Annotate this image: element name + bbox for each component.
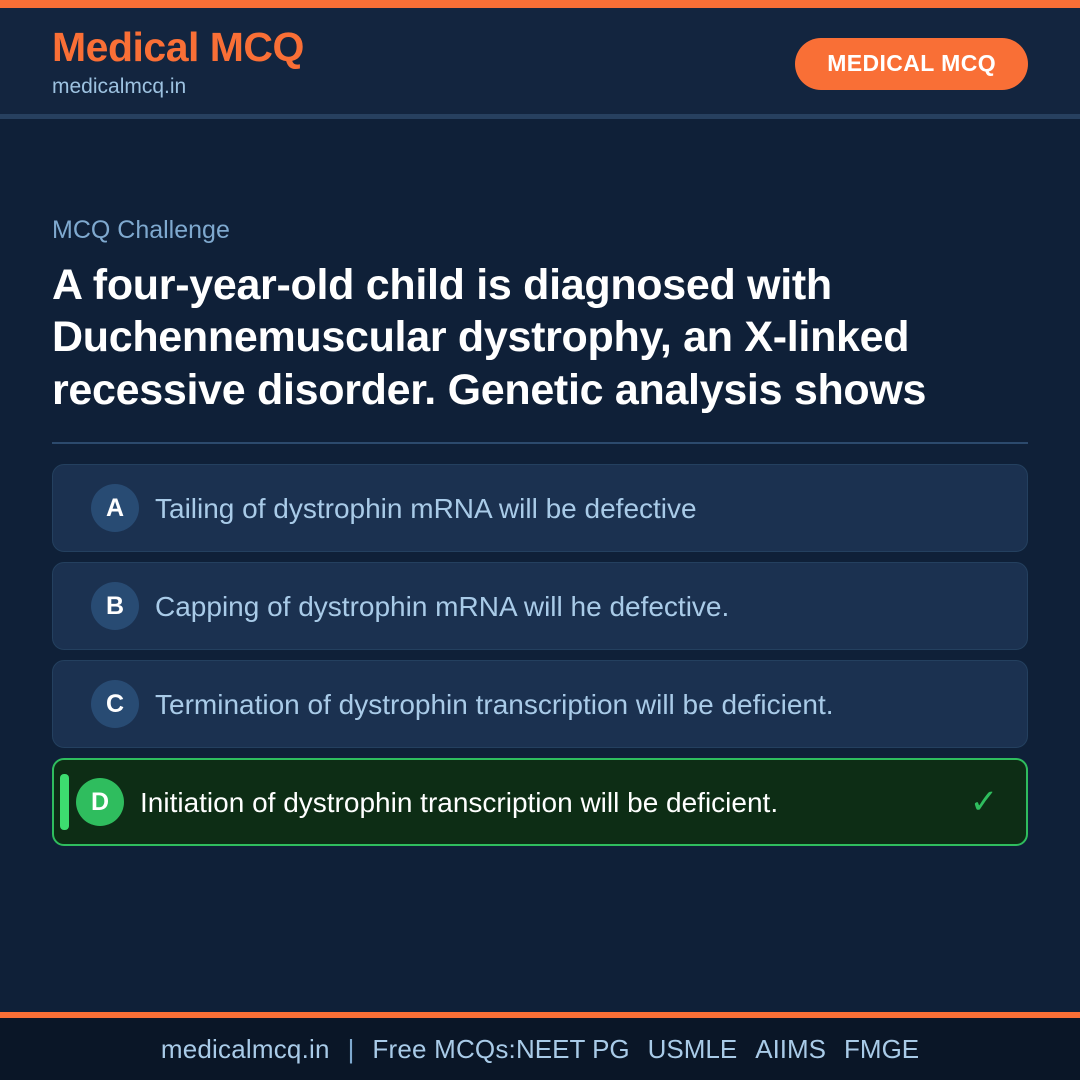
main-content: MCQ Challenge A four-year-old child is d… [0,119,1080,1012]
option-text: Initiation of dystrophin transcription w… [140,786,948,819]
header: Medical MCQ medicalmcq.in MEDICAL MCQ [0,8,1080,119]
brand-subtitle: medicalmcq.in [52,73,304,100]
main-spacer [52,846,1028,1012]
header-badge: MEDICAL MCQ [795,38,1028,90]
options-list: A Tailing of dystrophin mRNA will be def… [52,464,1028,846]
check-icon: ✓ [964,785,1004,819]
option-text: Tailing of dystrophin mRNA will be defec… [155,492,949,525]
top-accent-bar [0,0,1080,8]
option-letter-badge: D [76,778,124,826]
mcq-card: Medical MCQ medicalmcq.in MEDICAL MCQ MC… [0,0,1080,1080]
brand-title: Medical MCQ [52,26,304,69]
footer-label: Free MCQs: [372,1034,516,1065]
option-a[interactable]: A Tailing of dystrophin mRNA will be def… [52,464,1028,552]
footer: medicalmcq.in | Free MCQs: NEET PG USMLE… [0,1018,1080,1080]
header-divider [0,114,1080,119]
question-divider [52,442,1028,444]
footer-site: medicalmcq.in [161,1034,330,1065]
option-b[interactable]: B Capping of dystrophin mRNA will he def… [52,562,1028,650]
footer-tag-neetpg: NEET PG [516,1034,630,1065]
question-text: A four-year-old child is diagnosed with … [52,259,1028,416]
option-text: Capping of dystrophin mRNA will he defec… [155,590,949,623]
brand-block: Medical MCQ medicalmcq.in [52,26,304,100]
option-letter-badge: A [91,484,139,532]
option-letter-badge: B [91,582,139,630]
footer-tags: NEET PG USMLE AIIMS FMGE [516,1034,919,1065]
option-text: Termination of dystrophin transcription … [155,688,949,721]
footer-separator: | [330,1034,373,1065]
option-d[interactable]: D Initiation of dystrophin transcription… [52,758,1028,846]
eyebrow-label: MCQ Challenge [52,215,1028,245]
option-c[interactable]: C Termination of dystrophin transcriptio… [52,660,1028,748]
footer-tag-aiims: AIIMS [755,1034,826,1065]
correct-accent-bar [60,774,69,830]
footer-tag-fmge: FMGE [844,1034,919,1065]
option-letter-badge: C [91,680,139,728]
footer-tag-usmle: USMLE [648,1034,738,1065]
